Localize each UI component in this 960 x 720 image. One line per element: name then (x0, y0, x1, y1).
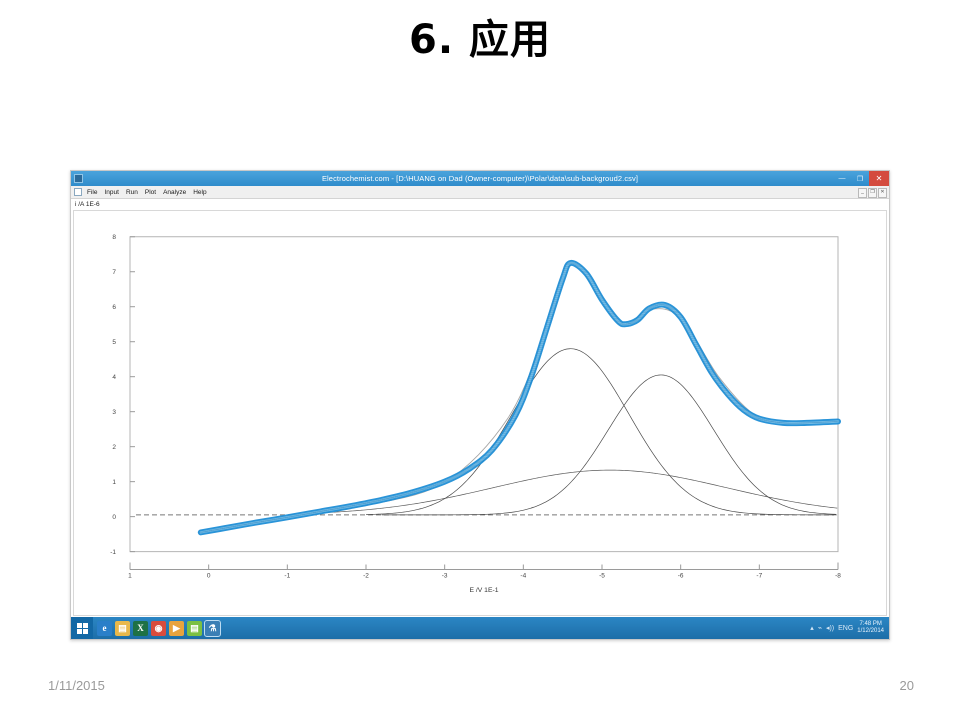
x-tick-label: -2 (363, 572, 369, 579)
language-indicator[interactable]: ENG (838, 625, 853, 632)
x-tick-label: -3 (442, 572, 448, 579)
x-tick-label: -4 (520, 572, 526, 579)
y-tick-label: 8 (112, 234, 116, 241)
component-peak-2 (382, 375, 836, 515)
y-tick-label: 4 (112, 374, 116, 381)
internet-explorer-icon[interactable]: e (97, 621, 112, 636)
x-tick-label: -7 (756, 572, 762, 579)
y-tick-label: 5 (112, 339, 116, 346)
start-icon[interactable] (71, 617, 93, 639)
y-tick-label: -1 (110, 549, 116, 556)
x-axis-label-text: E /V 1E-1 (469, 587, 498, 594)
volume-icon[interactable]: ◂)) (826, 624, 834, 632)
x-tick-label: -5 (599, 572, 605, 579)
x-tick-label: 0 (207, 572, 211, 579)
notepad-icon[interactable]: ▤ (187, 621, 202, 636)
slide: 6. 应用 Electrochemist.com - [D:\HUANG on … (0, 0, 960, 720)
excel-icon[interactable]: X (133, 621, 148, 636)
electrochemist-icon[interactable]: ⚗ (205, 621, 220, 636)
mdi-window-controls: _ ❐ ✕ (858, 188, 887, 198)
clock-date: 1/12/2014 (857, 628, 884, 634)
mdi-minimize-button[interactable]: _ (858, 188, 867, 198)
x-tick-label: -8 (835, 572, 841, 579)
window-title: Electrochemist.com - [D:\HUANG on Dad (O… (71, 174, 889, 183)
document-icon (74, 188, 82, 196)
clock-time: 7:48 PM (859, 621, 881, 627)
x-tick-label: 1 (128, 572, 132, 579)
y-tick-label: 0 (112, 514, 116, 521)
start-logo-icon (77, 623, 88, 634)
voltammogram-plot[interactable]: 876543210-1 10-1-2-3-4-5-6-7-8 (74, 211, 886, 615)
menu-item-analyze[interactable]: Analyze (163, 189, 186, 196)
plot-document[interactable]: 876543210-1 10-1-2-3-4-5-6-7-8 (73, 210, 887, 616)
client-area: i /A 1E-6 876543210-1 (71, 199, 889, 618)
application-window: Electrochemist.com - [D:\HUANG on Dad (O… (70, 170, 890, 640)
y-tick-label: 3 (112, 409, 116, 416)
y-tick-label: 1 (112, 479, 116, 486)
x-axis-ticks (130, 565, 838, 570)
menu-item-file[interactable]: File (87, 189, 97, 196)
file-explorer-icon[interactable]: ▤ (115, 621, 130, 636)
windows-taskbar: e▤X◉▶▤⚗ ▴ ⌁ ◂)) ENG 7:48 PM 1/12/2014 (71, 617, 889, 639)
menu-bar: File Input Run Plot Analyze Help _ ❐ ✕ (71, 186, 889, 199)
menu-item-input[interactable]: Input (104, 189, 118, 196)
y-tick-label: 6 (112, 304, 116, 311)
mdi-close-button[interactable]: ✕ (878, 188, 887, 198)
page-title: 6. 应用 (0, 18, 960, 62)
media-player-icon[interactable]: ▶ (169, 621, 184, 636)
show-hidden-icons-icon[interactable]: ▴ (810, 624, 814, 632)
x-axis-line (130, 563, 838, 570)
network-icon[interactable]: ⌁ (818, 624, 822, 632)
window-titlebar: Electrochemist.com - [D:\HUANG on Dad (O… (71, 171, 889, 186)
slide-footer-date: 1/11/2015 (48, 678, 105, 693)
mdi-restore-button[interactable]: ❐ (868, 188, 877, 198)
broad-background-peak (303, 470, 837, 513)
system-tray: ▴ ⌁ ◂)) ENG 7:48 PM 1/12/2014 (810, 621, 889, 635)
y-axis-tick-labels: 876543210-1 (110, 234, 116, 556)
y-tick-label: 7 (112, 269, 116, 276)
component-peak-1 (366, 349, 837, 515)
x-tick-label: -6 (678, 572, 684, 579)
y-axis-label: i /A 1E-6 (75, 201, 100, 208)
menu-item-plot[interactable]: Plot (145, 189, 156, 196)
measured-data-markers (198, 263, 839, 532)
slide-page-number: 20 (900, 678, 914, 693)
x-axis-tick-labels: 10-1-2-3-4-5-6-7-8 (128, 572, 841, 579)
taskbar-icons: e▤X◉▶▤⚗ (93, 621, 220, 636)
y-tick-label: 2 (112, 444, 116, 451)
clock[interactable]: 7:48 PM 1/12/2014 (857, 621, 884, 635)
overall-fit-curve (201, 264, 838, 532)
chrome-icon[interactable]: ◉ (151, 621, 166, 636)
menu-item-help[interactable]: Help (193, 189, 206, 196)
y-axis-ticks (130, 237, 135, 552)
x-tick-label: -1 (284, 572, 290, 579)
menu-item-run[interactable]: Run (126, 189, 138, 196)
